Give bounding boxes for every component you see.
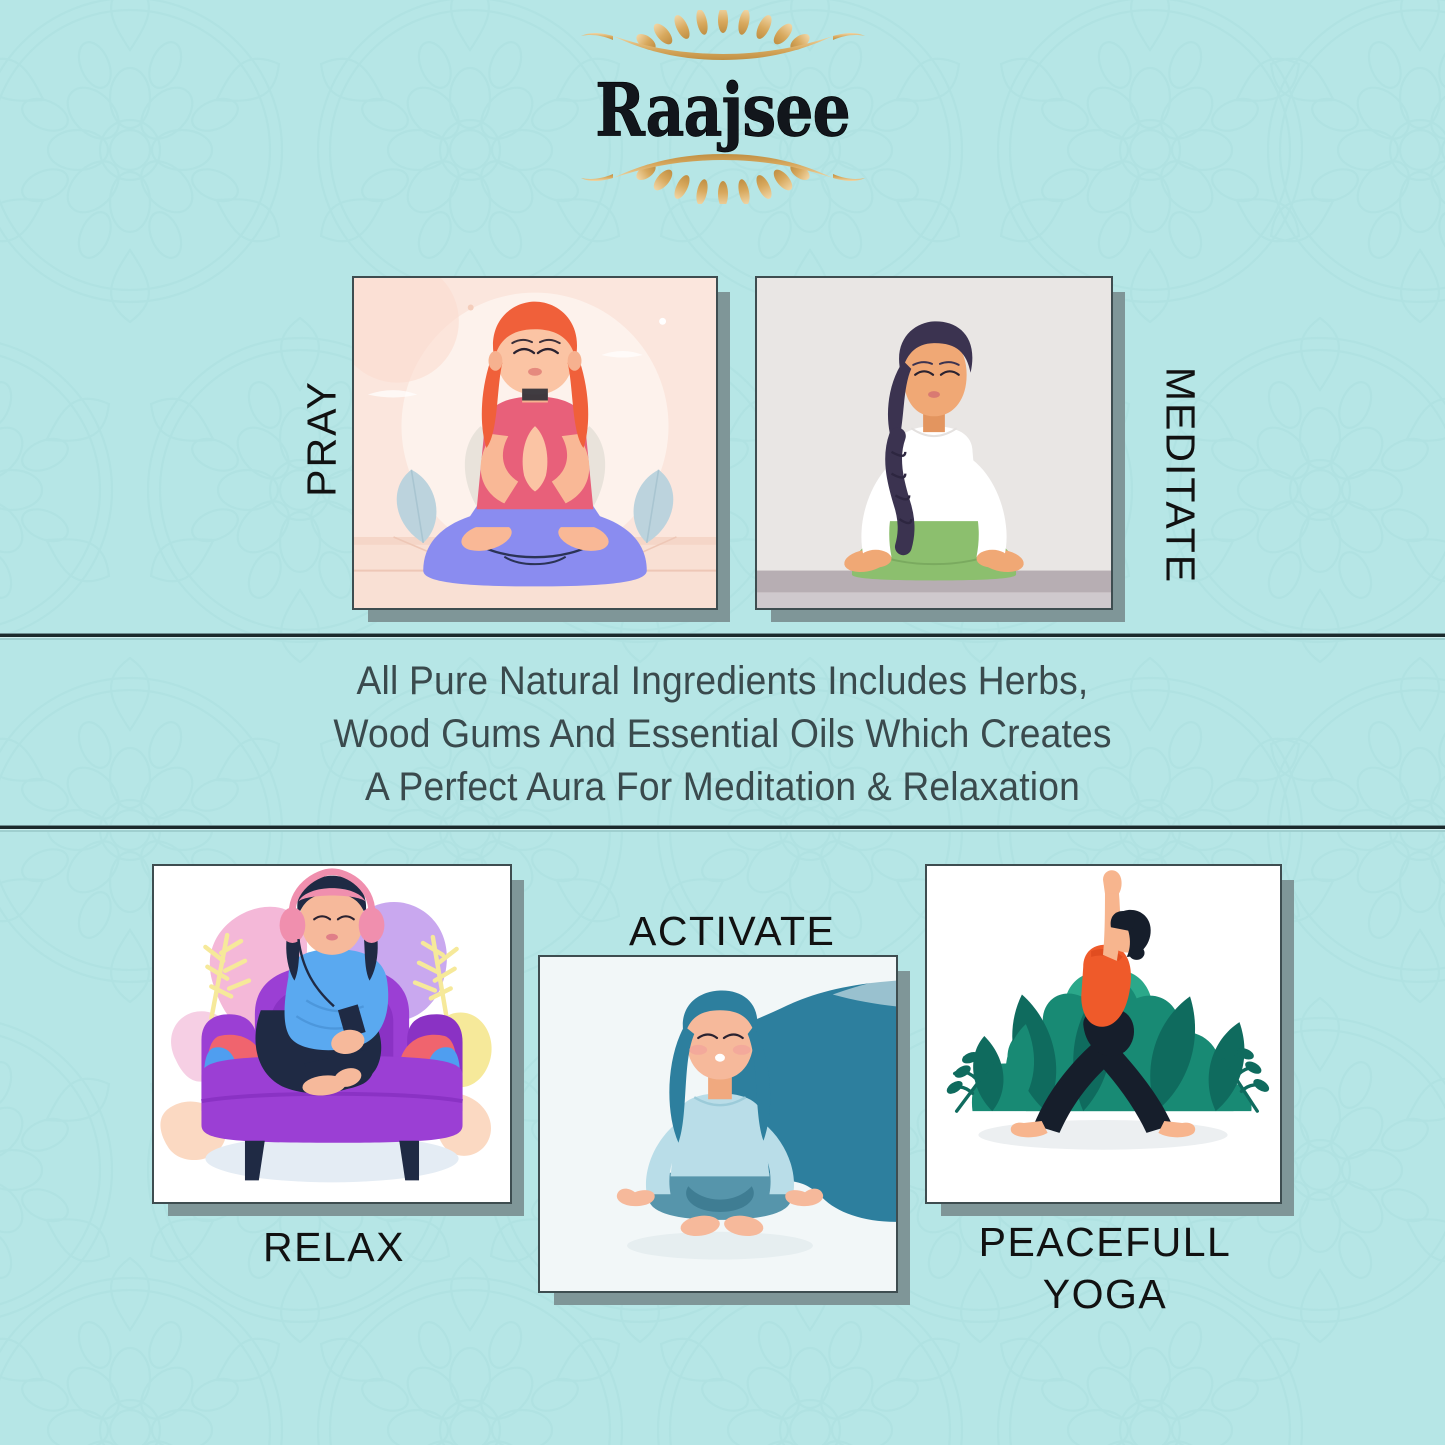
card-meditate[interactable] (755, 276, 1113, 610)
label-relax: RELAX (263, 1224, 405, 1271)
label-yoga-line-1: PEACEFULL (979, 1219, 1232, 1265)
divider-bottom (0, 825, 1445, 832)
label-activate: ACTIVATE (629, 908, 835, 955)
tagline-line-1: All Pure Natural Ingredients Includes He… (51, 655, 1395, 708)
banner-stage: Raajsee (0, 0, 1445, 1445)
illustration-activate (540, 957, 896, 1291)
tagline: All Pure Natural Ingredients Includes He… (51, 655, 1395, 814)
tagline-line-2: Wood Gums And Essential Oils Which Creat… (51, 708, 1395, 761)
card-activate[interactable] (538, 955, 898, 1293)
divider-top (0, 633, 1445, 640)
logo-flourish-top-icon (573, 10, 873, 72)
card-pray[interactable] (352, 276, 718, 610)
illustration-relax (154, 866, 510, 1202)
brand-logo: Raajsee (0, 10, 1445, 200)
brand-name: Raajsee (22, 74, 1424, 147)
illustration-meditate (757, 278, 1111, 608)
label-peacefull-yoga-text: PEACEFULL YOGA (930, 1216, 1280, 1320)
label-pray: PRAY (299, 349, 346, 529)
label-yoga-line-2: YOGA (1043, 1271, 1167, 1317)
illustration-peacefull-yoga (927, 866, 1280, 1202)
card-peacefull-yoga[interactable] (925, 864, 1282, 1204)
label-meditate: MEDITATE (1157, 336, 1204, 616)
tagline-line-3: A Perfect Aura For Meditation & Relaxati… (51, 761, 1395, 814)
card-relax[interactable] (152, 864, 512, 1204)
illustration-pray (354, 278, 716, 608)
